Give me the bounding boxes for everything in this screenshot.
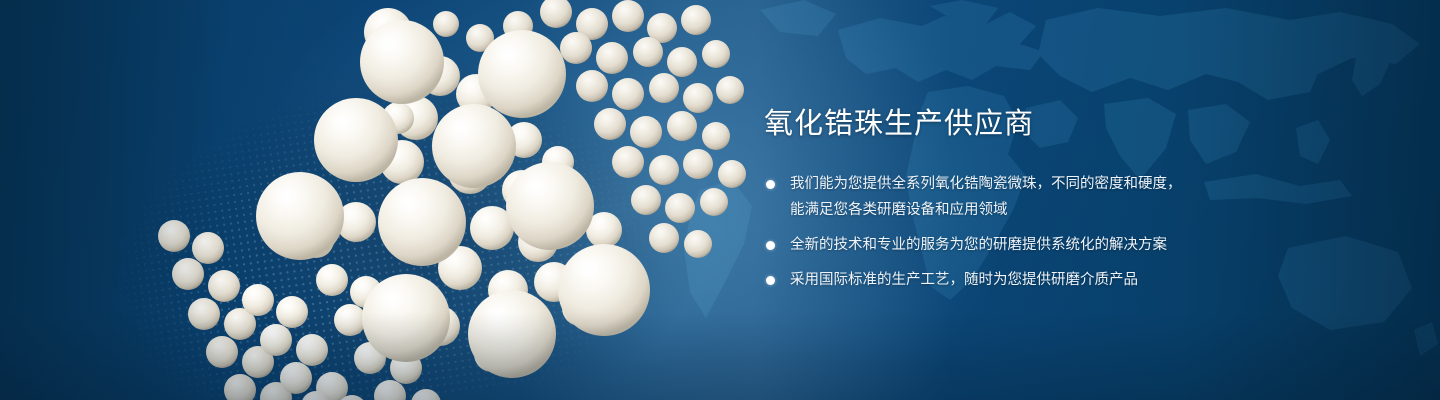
list-item-line: 我们能为您提供全系列氧化锆陶瓷微珠，不同的密度和硬度， xyxy=(790,172,1234,196)
list-item: 全新的技术和专业的服务为您的研磨提供系统化的解决方案 xyxy=(764,233,1234,257)
page-title: 氧化锆珠生产供应商 xyxy=(764,104,1234,144)
bullet-dot-icon xyxy=(766,241,775,250)
list-item: 采用国际标准的生产工艺，随时为您提供研磨介质产品 xyxy=(764,268,1234,292)
banner-copy: 氧化锆珠生产供应商 我们能为您提供全系列氧化锆陶瓷微珠，不同的密度和硬度， 能满… xyxy=(764,104,1234,292)
list-item-line: 采用国际标准的生产工艺，随时为您提供研磨介质产品 xyxy=(790,268,1234,292)
bullet-dot-icon xyxy=(766,180,775,189)
hero-banner: 氧化锆珠生产供应商 我们能为您提供全系列氧化锆陶瓷微珠，不同的密度和硬度， 能满… xyxy=(0,0,1440,400)
list-item: 我们能为您提供全系列氧化锆陶瓷微珠，不同的密度和硬度， 能满足您各类研磨设备和应… xyxy=(764,172,1234,222)
feature-list: 我们能为您提供全系列氧化锆陶瓷微珠，不同的密度和硬度， 能满足您各类研磨设备和应… xyxy=(764,172,1234,292)
list-item-line: 能满足您各类研磨设备和应用领域 xyxy=(790,198,1234,222)
bullet-dot-icon xyxy=(766,276,775,285)
list-item-line: 全新的技术和专业的服务为您的研磨提供系统化的解决方案 xyxy=(790,233,1234,257)
